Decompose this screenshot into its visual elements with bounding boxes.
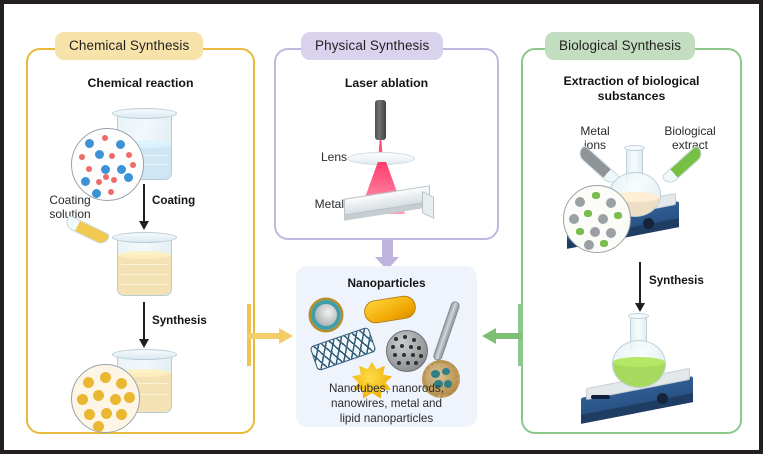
arrow-synthesis-chemical — [143, 302, 145, 340]
arrow-biological-to-nanoparticles — [496, 333, 521, 339]
hotplate-display-2 — [591, 395, 610, 399]
beaker-rim — [112, 232, 177, 243]
extraction-title: Extraction of biological substances — [521, 74, 742, 105]
figure-canvas: Chemical Synthesis Chemical reaction Coa… — [0, 0, 763, 454]
beaker-rim — [112, 108, 177, 119]
round-bottom-flask-green — [612, 340, 666, 388]
petri-dish-green-grey-particles — [563, 185, 631, 253]
flask-liquid-2 — [613, 362, 665, 387]
biological-extract-label: Biological extract — [658, 124, 722, 153]
hotplate-knob-1 — [643, 218, 654, 229]
step-label-synthesis-chemical: Synthesis — [152, 314, 207, 327]
arrow-chemical-head — [279, 328, 293, 344]
panel-tag-chemical-synthesis: Chemical Synthesis — [55, 32, 203, 60]
arrow-biological-head — [482, 328, 496, 344]
beaker-rim — [112, 349, 177, 360]
panel-tag-physical-synthesis: Physical Synthesis — [301, 32, 443, 60]
core-shell-nanoparticle-icon — [311, 300, 341, 330]
arrow-synthesis-biological — [639, 262, 641, 304]
beaker-yellow-liquid-coated — [117, 232, 172, 296]
mesoporous-silica-nanoparticle-icon — [386, 330, 428, 372]
metal-ions-label: Metal ions — [567, 124, 623, 153]
chemical-reaction-title: Chemical reaction — [26, 76, 255, 91]
arrow-physical-to-nanoparticles — [382, 240, 393, 257]
arrow-chemical-to-nanoparticles — [247, 333, 281, 339]
beaker-body — [117, 238, 172, 296]
nanoparticles-caption: Nanotubes, nanorods, nanowires, metal an… — [298, 382, 475, 427]
lens-label: Lens — [307, 150, 347, 164]
hotplate-knob-2 — [657, 393, 668, 404]
step-label-synthesis-biological: Synthesis — [649, 274, 704, 287]
arrow-coating — [143, 184, 145, 222]
laser-ablation-title: Laser ablation — [274, 76, 499, 91]
nanoparticles-title: Nanoparticles — [296, 276, 477, 290]
petri-dish-gold-nanoparticles — [71, 364, 140, 433]
beaker-liquid — [118, 255, 171, 295]
step-label-coating: Coating — [152, 194, 195, 207]
flask-lip-2 — [628, 313, 649, 319]
metal-label: Metal — [298, 197, 344, 211]
laser-emitter-icon — [375, 100, 386, 140]
flask-lip-1 — [624, 145, 645, 151]
petri-dish-red-blue-particles — [71, 128, 144, 201]
panel-tag-biological-synthesis: Biological Synthesis — [545, 32, 695, 60]
